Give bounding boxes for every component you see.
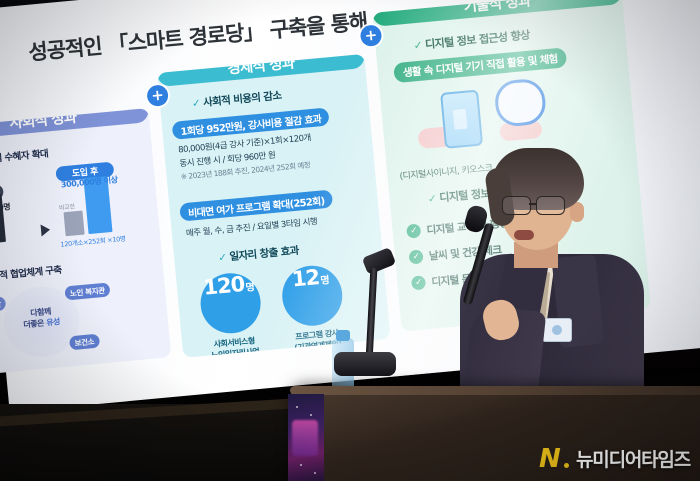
logo-mark-icon: N (539, 447, 569, 471)
check-icon: ✓ (427, 192, 437, 206)
network-tag: 보건소 (69, 334, 100, 351)
check-icon: ✓ (191, 97, 200, 110)
economic-stat-circle: 120 명 (198, 271, 263, 336)
network-tag: 노인 복지관 (64, 282, 110, 300)
stat-unit: 명 (320, 271, 331, 287)
economic-bullet-2: ✓일자리 창출 효과 (218, 243, 300, 265)
photo-frame: 디지털 선도사업 | 스마트 경로당 구축 성공적인 「스마트 경로당」 구축을… (0, 0, 700, 481)
social-network-diagram: 다함께 더좋은 유성 국민건강보험공단 노인 복지관 민간 지원 보건소 (0, 272, 147, 369)
panel-economic-outcome: 경제적 성과 ✓사회적 비용의 감소 1회당 952만원, 강사비용 절감 효과… (157, 54, 391, 358)
check-icon: ✓ (411, 275, 426, 290)
check-icon: ✓ (413, 39, 423, 53)
banner-glow (292, 420, 318, 456)
speaker-mouth (514, 230, 534, 240)
panel-social-heading: 사회적 성과 (0, 108, 150, 142)
speaker-name-badge (542, 318, 572, 342)
panel-technical-heading: 기술적 성과 (372, 0, 622, 27)
social-bullet-1: ✓프로그램 수혜자 확대 (0, 146, 49, 168)
panel-social-outcome: 사회적 성과 ✓프로그램 수혜자 확대 도입 전 도입 후 14,000명 30… (0, 108, 171, 377)
watermark-logo: N 뉴미디어타임즈 (539, 445, 690, 472)
stat-number: 12 (291, 265, 320, 291)
watermark-brand: 뉴미디어타임즈 (576, 445, 690, 472)
economic-stat-circle: 12 명 (280, 263, 345, 328)
check-icon: ✓ (406, 223, 421, 238)
stat-unit: 명 (245, 278, 256, 294)
desk-microphone-base (334, 352, 396, 376)
check-icon: ✓ (218, 251, 227, 264)
eyeglasses-icon (502, 196, 568, 213)
tablet-icon (493, 77, 547, 127)
podium-top-edge (290, 386, 700, 395)
social-bar-chart: 도입 전 도입 후 14,000명 300,000명 이상 비교전 비교전 개소… (0, 157, 153, 267)
technical-bullet-1: ✓디지털 정보 접근성 향상 (413, 27, 530, 54)
podium-banner (288, 394, 324, 481)
chart-bar-after-ref (63, 211, 84, 237)
panel-economic-heading: 경제적 성과 (157, 54, 365, 87)
arrow-right-icon (41, 224, 51, 237)
stat-number: 120 (202, 272, 245, 300)
economic-bullet-1: ✓사회적 비용의 감소 (191, 88, 282, 111)
check-icon: ✓ (409, 249, 424, 264)
water-bottle-cap (336, 330, 350, 341)
economic-stat-caption: 사회서비스형 노인일자리사업 (188, 333, 282, 358)
chart-after-small: 비교전 (59, 201, 75, 211)
smartphone-icon (440, 90, 483, 149)
